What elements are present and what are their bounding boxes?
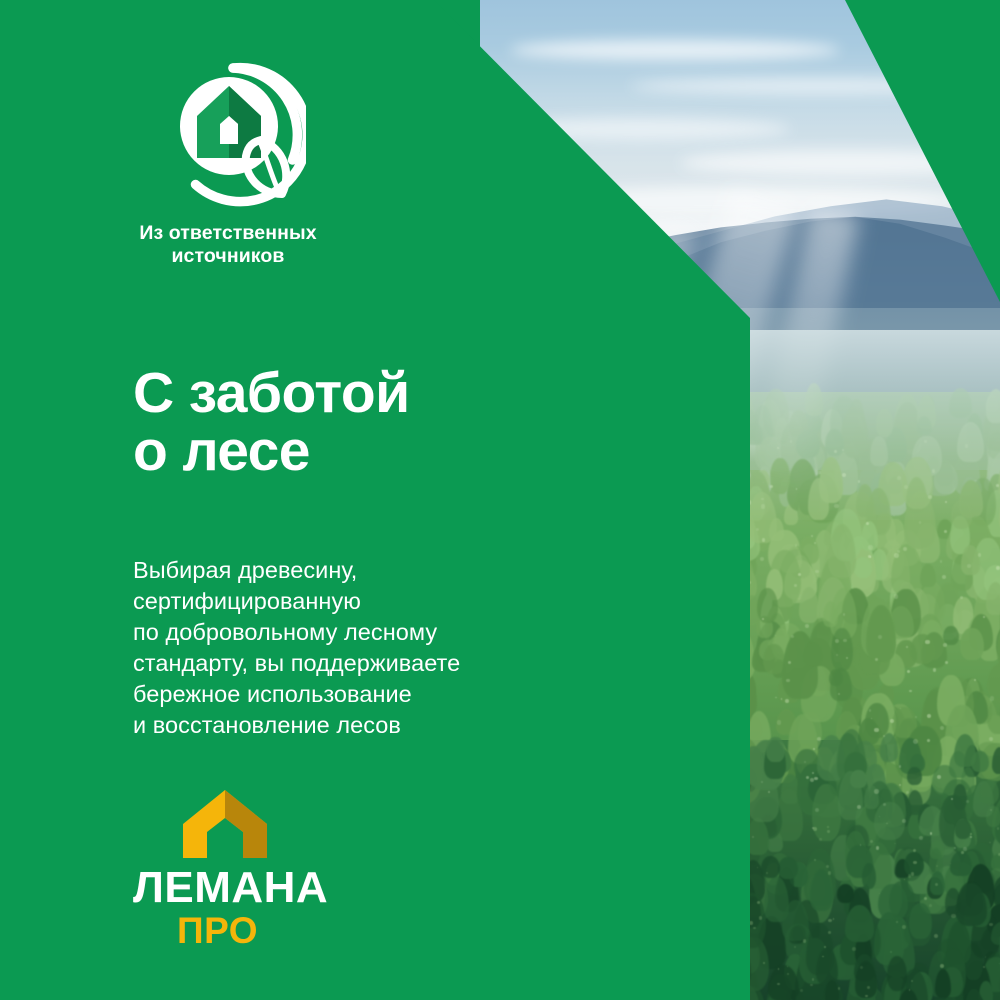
poster-content: Из ответственных источников С заботой о … [0,0,1000,1000]
brand-suffix: ПРО [177,912,363,949]
headline: С заботой о лесе [133,364,410,480]
body-copy: Выбирая древесину, сертифицированную по … [133,555,460,741]
brand-name: ЛЕМАНА [133,866,363,910]
lemana-house-icon [181,788,269,860]
responsible-sources-seal-icon [160,62,306,208]
responsible-sources-badge: Из ответственных источников [133,62,433,268]
lemana-pro-brand-lockup: ЛЕМАНА ПРО [133,788,363,949]
responsible-sources-caption: Из ответственных источников [78,222,378,268]
promo-poster: Из ответственных источников С заботой о … [0,0,1000,1000]
